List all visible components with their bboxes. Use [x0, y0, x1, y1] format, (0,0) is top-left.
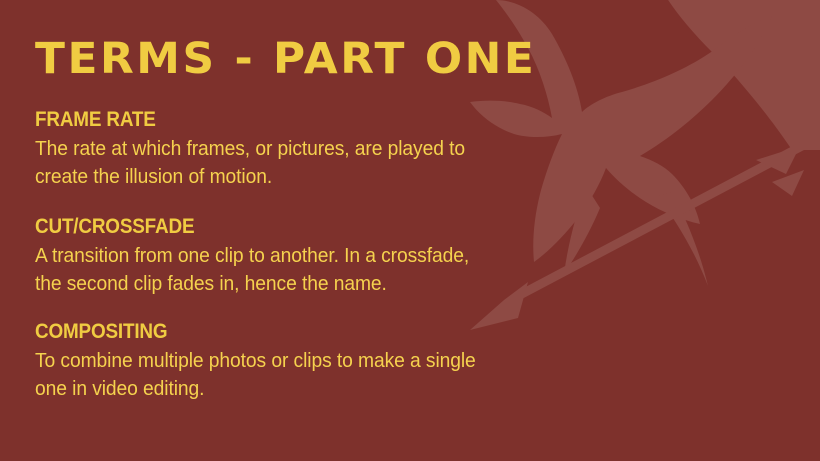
term-definition-line: To combine multiple photos or clips to m…	[35, 347, 580, 375]
term-definition-line: A transition from one clip to another. I…	[35, 242, 580, 270]
term-definition-line: The rate at which frames, or pictures, a…	[35, 135, 580, 163]
term-entry-frame-rate: FRAME RATE The rate at which frames, or …	[35, 108, 615, 191]
slide-content: TERMS - PART ONE FRAME RATE The rate at …	[35, 0, 635, 461]
term-entry-cut-crossfade: CUT/CROSSFADE A transition from one clip…	[35, 215, 615, 298]
term-definition-line: one in video editing.	[35, 375, 580, 403]
term-entry-compositing: COMPOSITING To combine multiple photos o…	[35, 320, 615, 403]
page-title: TERMS - PART ONE	[35, 38, 536, 81]
term-heading: FRAME RATE	[35, 108, 557, 132]
term-definition: To combine multiple photos or clips to m…	[35, 347, 580, 403]
term-heading: COMPOSITING	[35, 320, 557, 344]
term-definition-line: create the illusion of motion.	[35, 163, 580, 191]
slide-canvas: TERMS - PART ONE FRAME RATE The rate at …	[0, 0, 820, 461]
term-definition: The rate at which frames, or pictures, a…	[35, 135, 580, 191]
term-definition: A transition from one clip to another. I…	[35, 242, 580, 298]
term-definition-line: the second clip fades in, hence the name…	[35, 270, 580, 298]
term-heading: CUT/CROSSFADE	[35, 215, 557, 239]
